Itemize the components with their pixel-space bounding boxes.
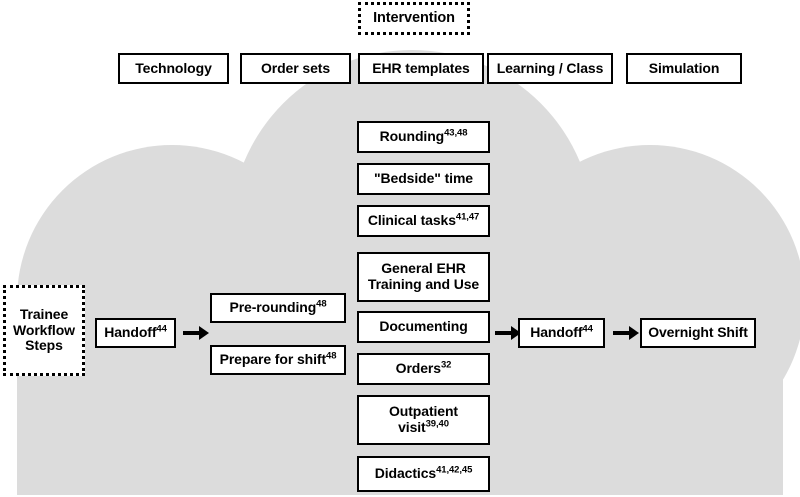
activity-didactics: Didactics41,42,45 — [357, 456, 490, 492]
activity-label: Clinical tasks — [368, 212, 456, 228]
pre-rounding-refs: 48 — [316, 299, 326, 310]
activity-label: Orders — [396, 360, 441, 376]
category-order-sets: Order sets — [240, 53, 351, 84]
category-label: Simulation — [649, 61, 720, 77]
activity-clinical-tasks: Clinical tasks41,47 — [357, 205, 490, 237]
activity-orders: Orders32 — [357, 353, 490, 385]
handoff-end-box: Handoff44 — [518, 318, 605, 348]
activity-rounding: Rounding43,48 — [357, 121, 490, 153]
handoff-end-label: Handoff — [530, 324, 582, 340]
category-label: Technology — [135, 61, 212, 77]
category-technology: Technology — [118, 53, 229, 84]
handoff-end-refs: 44 — [582, 324, 592, 335]
category-label: EHR templates — [372, 61, 470, 77]
trainee-workflow-label: Trainee Workflow Steps — [13, 307, 75, 354]
pre-rounding-box: Pre-rounding48 — [210, 293, 346, 323]
handoff-start-refs: 44 — [156, 324, 166, 335]
category-learning-class: Learning / Class — [487, 53, 613, 84]
category-simulation: Simulation — [626, 53, 742, 84]
category-label: Order sets — [261, 61, 330, 77]
activity-outpatient-visit: Outpatient visit39,40 — [357, 395, 490, 445]
intervention-label: Intervention — [373, 10, 455, 26]
diagram-canvas: Intervention Technology Order sets EHR t… — [0, 0, 800, 497]
activity-label: Documenting — [379, 318, 467, 334]
trainee-workflow-steps-box: Trainee Workflow Steps — [3, 285, 85, 376]
activity-label: Rounding — [380, 128, 445, 144]
pre-rounding-label: Pre-rounding — [229, 299, 316, 315]
category-ehr-templates: EHR templates — [358, 53, 484, 84]
category-label: Learning / Class — [497, 61, 604, 77]
activity-bedside-time: "Bedside" time — [357, 163, 490, 195]
handoff-start-box: Handoff44 — [95, 318, 176, 348]
activity-refs: 32 — [441, 360, 451, 371]
activity-general-ehr-training: General EHR Training and Use — [357, 252, 490, 302]
prepare-for-shift-label: Prepare for shift — [220, 351, 326, 367]
handoff-start-label: Handoff — [104, 324, 156, 340]
intervention-box: Intervention — [358, 2, 470, 35]
prepare-for-shift-refs: 48 — [326, 351, 336, 362]
overnight-shift-box: Overnight Shift — [640, 318, 756, 348]
overnight-shift-label: Overnight Shift — [648, 325, 748, 341]
activity-refs: 39,40 — [426, 418, 449, 429]
activity-label: General EHR Training and Use — [368, 260, 479, 292]
activity-refs: 43,48 — [444, 128, 467, 139]
activity-refs: 41,42,45 — [436, 465, 472, 476]
activity-documenting: Documenting — [357, 311, 490, 343]
activity-refs: 41,47 — [456, 212, 479, 223]
activity-label: "Bedside" time — [374, 170, 473, 186]
activity-label: Didactics — [375, 465, 436, 481]
prepare-for-shift-box: Prepare for shift48 — [210, 345, 346, 375]
